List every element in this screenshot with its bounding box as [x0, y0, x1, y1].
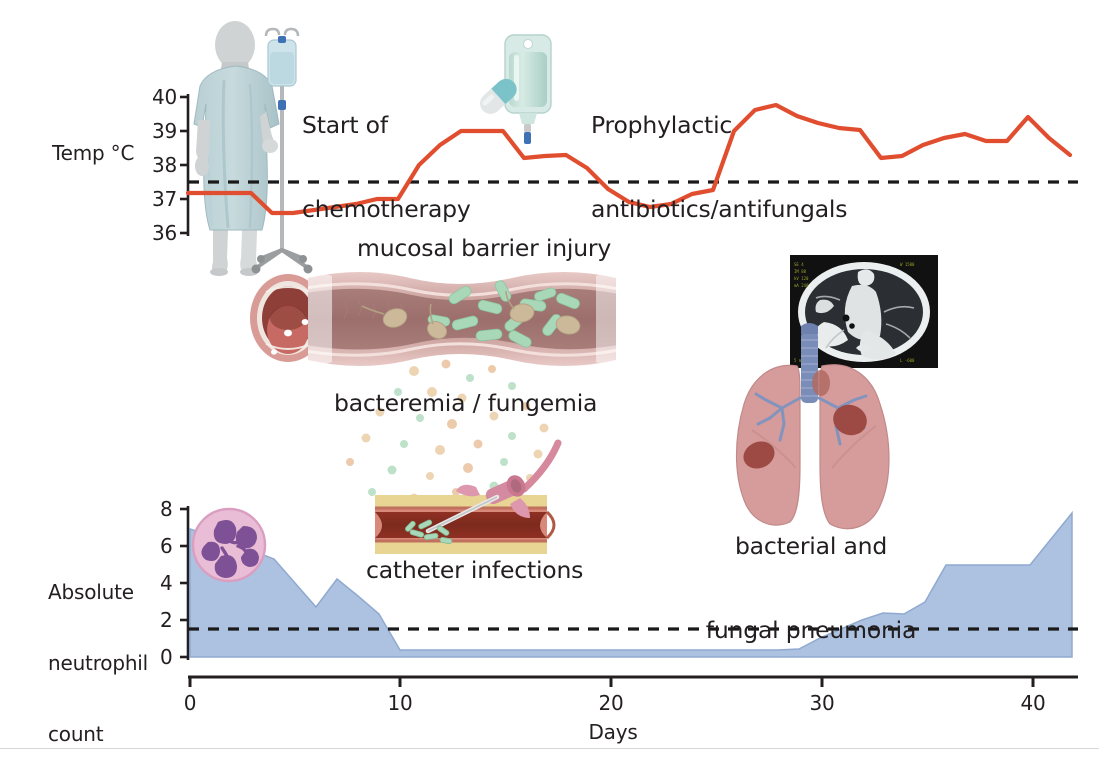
xtick-30: 30 — [802, 692, 842, 716]
svg-text:L -600: L -600 — [900, 358, 915, 363]
anc-axis-title-line: neutrophil — [48, 652, 168, 676]
annotation-line: Start of — [302, 112, 471, 140]
xtick-10: 10 — [380, 692, 420, 716]
annotation-line: chemotherapy — [302, 196, 471, 224]
neutrophil-cell-illustration — [193, 509, 265, 581]
anc-axis-title-line: Absolute — [48, 581, 168, 605]
x-axis-label: Days — [563, 721, 663, 745]
anc-ytick-0: 0 — [160, 646, 173, 670]
annotation-line: Prophylactic — [591, 112, 847, 140]
figure-canvas: SE 4IM 88 kV 120mA 240 W 1500L -600 5 mm — [0, 0, 1099, 745]
svg-text:W 1500: W 1500 — [900, 262, 915, 267]
footer-divider — [0, 748, 1099, 749]
xtick-0: 0 — [170, 692, 210, 716]
annotation-bacteremia-fungemia: bacteremia / fungemia — [334, 390, 597, 418]
annotation-line: antibiotics/antifungals — [591, 196, 847, 224]
anc-ytick-2: 2 — [160, 609, 173, 633]
annotation-line: fungal pneumonia — [700, 617, 922, 645]
anc-axis-title: Absolute neutrophil count — [48, 534, 168, 779]
annotation-line: bacterial and — [700, 533, 922, 561]
temp-ytick-39: 39 — [152, 120, 177, 144]
svg-text:mA 240: mA 240 — [794, 283, 809, 288]
iv-bag-and-pill-illustration — [476, 35, 551, 144]
patient-with-iv-pole-illustration — [194, 21, 313, 276]
anc-series-area — [190, 513, 1072, 657]
anc-ytick-4: 4 — [160, 572, 173, 596]
annotation-catheter-infections: catheter infections — [366, 557, 583, 585]
x-axis — [188, 677, 1078, 687]
anc-ytick-6: 6 — [160, 535, 173, 559]
temperature-chart-axes — [180, 94, 188, 236]
annotation-mucosal-barrier-injury: mucosal barrier injury — [357, 235, 611, 263]
anc-ytick-8: 8 — [160, 498, 173, 522]
xtick-40: 40 — [1013, 692, 1053, 716]
anc-chart-axes — [180, 506, 188, 660]
temp-ytick-36: 36 — [152, 222, 177, 246]
temperature-axis-title: Temp °C — [52, 142, 134, 166]
infographic-page: SE 4IM 88 kV 120mA 240 W 1500L -600 5 mm — [0, 0, 1099, 779]
annotation-prophylactic-antibiotics: Prophylactic antibiotics/antifungals — [591, 57, 847, 279]
gut-mucosa-bacteria-illustration — [300, 272, 624, 366]
temp-ytick-37: 37 — [152, 188, 177, 212]
catheter-in-vessel-illustration — [375, 443, 558, 554]
temp-ytick-40: 40 — [152, 86, 177, 110]
annotation-bacterial-fungal-pneumonia: bacterial and fungal pneumonia — [700, 478, 922, 700]
xtick-20: 20 — [591, 692, 631, 716]
anc-axis-title-line: count — [48, 723, 168, 747]
temp-ytick-38: 38 — [152, 154, 177, 178]
